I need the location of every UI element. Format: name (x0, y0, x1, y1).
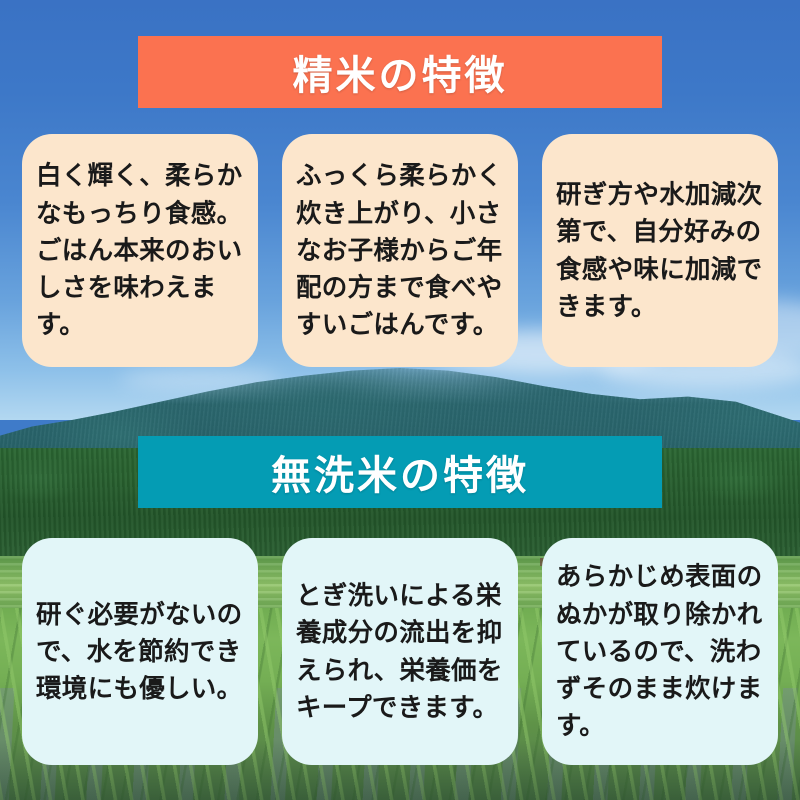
card-row-musenmai: 研ぐ必要がないので、水を節約でき環境にも優しい。 とぎ洗いによる栄養成分の流出を… (22, 538, 778, 765)
card-row-seimai: 白く輝く、柔らかなもっちり食感。ごはん本来のおいしさを味わえます。 ふっくら柔ら… (22, 134, 778, 367)
feature-card-text: ふっくら柔らかく炊き上がり、小さなお子様からご年配の方まで食べやすいごはんです。 (296, 157, 504, 343)
banner-seimai: 精米の特徴 (138, 36, 662, 108)
feature-card: 研ぐ必要がないので、水を節約でき環境にも優しい。 (22, 538, 258, 765)
feature-card-text: とぎ洗いによる栄養成分の流出を抑えられ、栄養価をキープできます。 (296, 577, 504, 726)
feature-card: あらかじめ表面のぬかが取り除かれているので、洗わずそのまま炊けます。 (542, 538, 778, 765)
feature-card-text: 研ぎ方や水加減次第で、自分好みの食感や味に加減できます。 (556, 176, 764, 325)
banner-musenmai: 無洗米の特徴 (138, 436, 662, 508)
feature-card-text: 白く輝く、柔らかなもっちり食感。ごはん本来のおいしさを味わえます。 (36, 157, 244, 343)
feature-card-text: あらかじめ表面のぬかが取り除かれているので、洗わずそのまま炊けます。 (556, 558, 764, 744)
feature-card: 研ぎ方や水加減次第で、自分好みの食感や味に加減できます。 (542, 134, 778, 367)
poster-root: 精米の特徴 白く輝く、柔らかなもっちり食感。ごはん本来のおいしさを味わえます。 … (0, 0, 800, 800)
feature-card: とぎ洗いによる栄養成分の流出を抑えられ、栄養価をキープできます。 (282, 538, 518, 765)
feature-card: 白く輝く、柔らかなもっちり食感。ごはん本来のおいしさを味わえます。 (22, 134, 258, 367)
feature-card-text: 研ぐ必要がないので、水を節約でき環境にも優しい。 (36, 596, 244, 708)
feature-card: ふっくら柔らかく炊き上がり、小さなお子様からご年配の方まで食べやすいごはんです。 (282, 134, 518, 367)
